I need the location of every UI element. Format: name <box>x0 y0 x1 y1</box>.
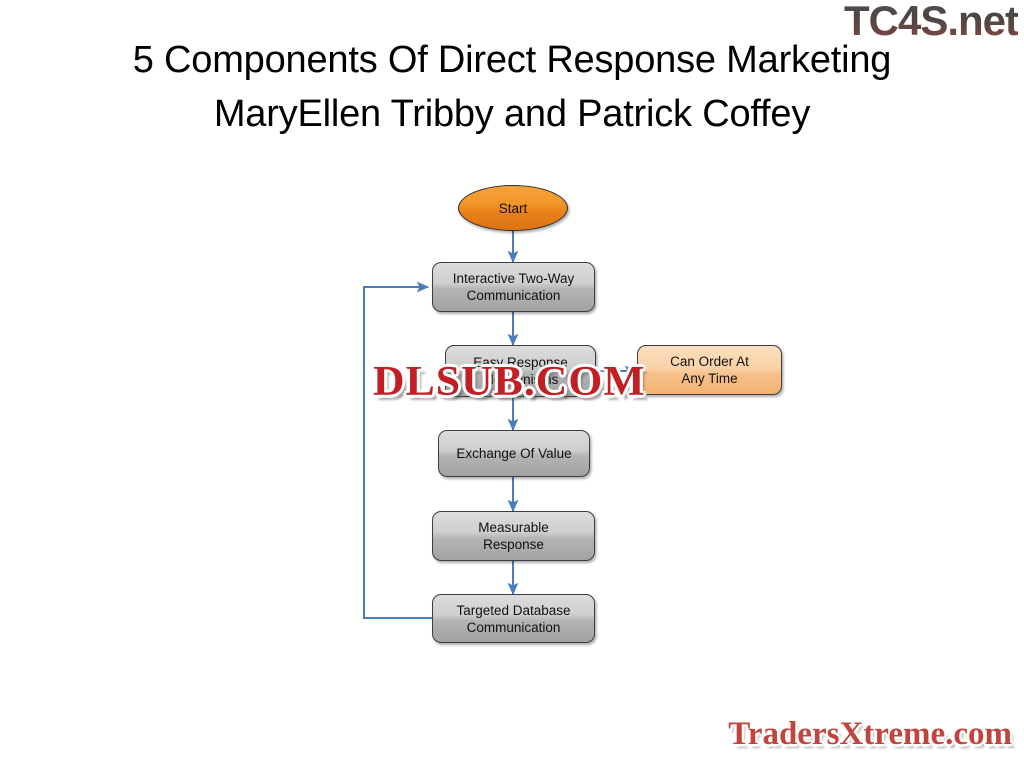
flow-node-exchange-of-value[interactable]: Exchange Of Value <box>438 430 590 477</box>
flow-node-measurable-response[interactable]: Measurable Response <box>432 511 595 561</box>
flow-node-targeted-label-line-1: Targeted Database <box>450 602 576 619</box>
flow-node-start[interactable]: Start <box>458 185 568 231</box>
flow-node-can-order-at-any-time[interactable]: Can Order At Any Time <box>637 345 782 395</box>
flow-node-measurable-label-line-1: Measurable <box>472 519 555 536</box>
flow-node-easy-response-label-line-2: Mechanisms <box>467 371 574 388</box>
edge-targeted-to-interactive-feedback <box>364 287 432 618</box>
flowchart-diagram: Start Interactive Two-Way Communication … <box>0 0 1024 768</box>
flow-node-targeted-label-line-2: Communication <box>450 619 576 636</box>
flow-node-exchange-label: Exchange Of Value <box>450 445 577 462</box>
flow-node-measurable-label-line-2: Response <box>472 536 555 553</box>
flow-node-can-order-label-line-1: Can Order At <box>664 353 755 370</box>
flow-node-easy-response-label: Easy Response Mechanisms <box>467 354 574 388</box>
flow-node-targeted-label: Targeted Database Communication <box>450 602 576 636</box>
flow-node-start-label: Start <box>493 200 534 217</box>
flow-node-targeted-database-communication[interactable]: Targeted Database Communication <box>432 594 595 643</box>
flow-node-interactive-label: Interactive Two-Way Communication <box>447 270 581 304</box>
flow-node-can-order-label-line-2: Any Time <box>664 370 755 387</box>
flow-node-measurable-label: Measurable Response <box>472 519 555 553</box>
flow-node-interactive-label-line-1: Interactive Two-Way <box>447 270 581 287</box>
flow-node-easy-response-mechanisms[interactable]: Easy Response Mechanisms <box>445 345 596 397</box>
flow-node-interactive-label-line-2: Communication <box>447 287 581 304</box>
flow-node-can-order-label: Can Order At Any Time <box>664 353 755 387</box>
flow-node-easy-response-label-line-1: Easy Response <box>467 354 574 371</box>
flow-node-interactive-two-way-communication[interactable]: Interactive Two-Way Communication <box>432 262 595 312</box>
